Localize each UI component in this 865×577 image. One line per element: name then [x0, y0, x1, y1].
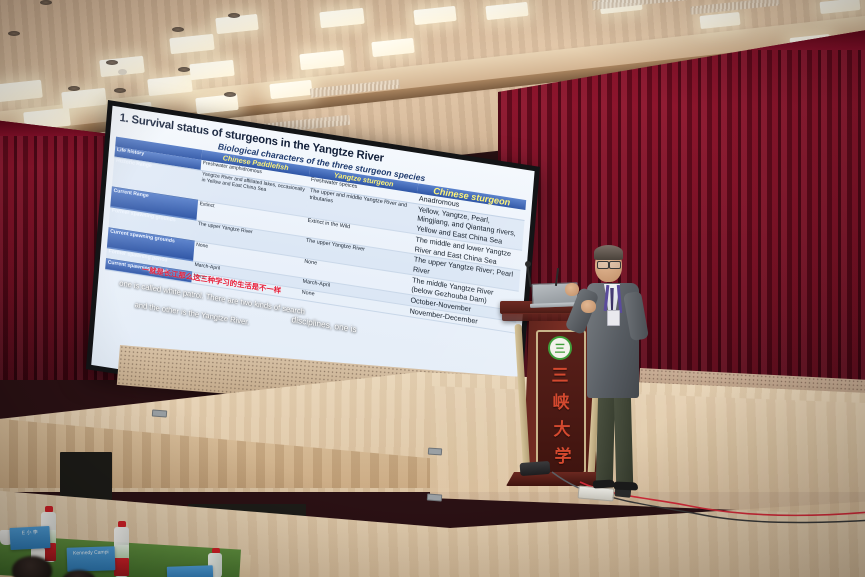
ceiling-downlight [68, 86, 80, 91]
smoke-detector-icon [118, 69, 127, 75]
podium-char-1: 三 [540, 361, 580, 386]
ceiling-downlight [228, 13, 240, 18]
speaker-leg-right [614, 392, 633, 486]
microphone-head-icon [525, 261, 531, 267]
ceiling-downlight [172, 27, 184, 32]
university-logo-icon: 三 [548, 336, 572, 360]
speaker-hair [594, 245, 623, 260]
auditorium-photo: 1. Survival status of sturgeons in the Y… [0, 0, 865, 577]
ceiling-downlight [8, 31, 20, 36]
speaker-badge [607, 310, 620, 326]
bottle-label-band [114, 558, 129, 576]
ceiling-downlight [178, 67, 190, 72]
ceiling-downlight [40, 0, 52, 5]
floor-pedal [520, 461, 551, 476]
podium-char-3: 大 [542, 415, 582, 440]
name-placard [167, 565, 213, 577]
bottle-label [114, 545, 129, 558]
placard-text: Kennedy Campi [67, 546, 115, 557]
subtitle-english-line3: disciplines, one is [291, 315, 357, 335]
audience-head [12, 556, 52, 577]
speaker-eyeglasses [609, 261, 621, 269]
podium-char-2: 峡 [541, 388, 581, 413]
water-bottle [114, 521, 129, 577]
speaker-eyeglasses [597, 261, 609, 269]
speaker-shoe-right [614, 482, 638, 491]
stage-floor-socket [152, 409, 167, 417]
floor-cables [540, 462, 865, 572]
stage-floor-socket [427, 493, 442, 501]
name-placard: Kennedy Campi [67, 546, 116, 572]
speaker-leg-left [596, 392, 615, 484]
speaker-shoe-left [593, 479, 615, 488]
ceiling-downlight [224, 92, 236, 97]
speaker-hand-left [565, 283, 579, 296]
stage-recess-panel [60, 452, 112, 502]
ceiling-downlight [106, 60, 118, 65]
placard-text [167, 565, 213, 570]
stage-floor-socket [428, 448, 442, 456]
ceiling-downlight [114, 88, 126, 93]
speaker-hand-right [581, 300, 596, 313]
name-placard: E 小 李 [9, 526, 50, 550]
placard-text: E 小 李 [9, 526, 49, 537]
